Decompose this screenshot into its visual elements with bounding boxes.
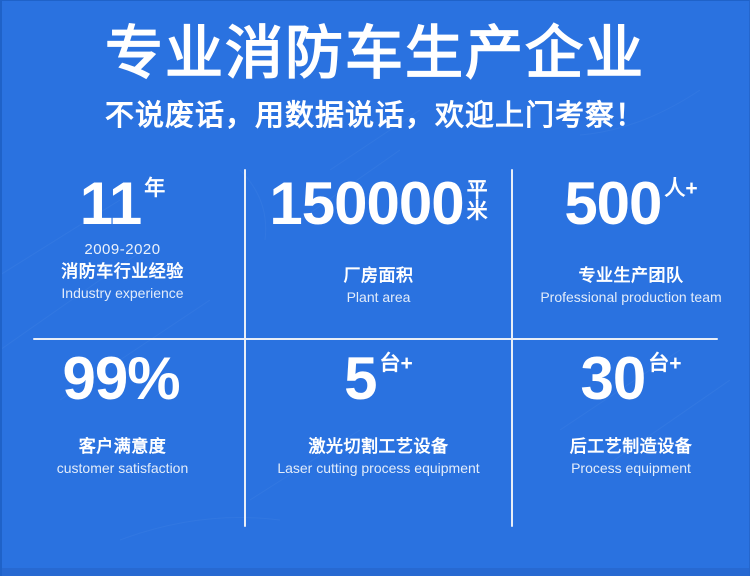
stat-number-row: 30 台+ <box>580 348 681 410</box>
stat-number-row: 11 年 <box>80 173 165 235</box>
stat-label-cn: 后工艺制造设备 <box>570 436 693 458</box>
stat-unit: 人+ <box>664 178 697 200</box>
stat-range: 2009-2020 <box>84 241 160 259</box>
page-title: 专业消防车生产企业 <box>0 20 750 88</box>
stat-card-plant-area: 150000 平 米 厂房面积 Plant area <box>245 155 512 324</box>
stat-label-en: Plant area <box>347 288 411 307</box>
stat-number-row: 5 台+ <box>344 348 413 410</box>
page-subtitle: 不说废话，用数据说话，欢迎上门考察！ <box>0 96 750 136</box>
stat-label-cn: 消防车行业经验 <box>61 261 184 283</box>
stat-unit: 台+ <box>648 353 681 375</box>
stat-card-industry-experience: 11 年 2009-2020 消防车行业经验 Industry experien… <box>0 155 245 324</box>
stat-label-en: Laser cutting process equipment <box>277 459 479 478</box>
stat-number-row: 500 人+ <box>564 173 697 235</box>
stat-number: 11 <box>80 173 141 235</box>
stat-label-en: customer satisfaction <box>57 459 189 478</box>
stat-number: 5 <box>344 348 376 410</box>
bottom-band <box>0 568 750 576</box>
stat-number-row: 150000 平 米 <box>269 173 487 235</box>
stat-label-en: Industry experience <box>61 284 183 303</box>
stat-number: 99% <box>62 348 179 410</box>
stat-card-laser-cutting-equipment: 5 台+ 激光切割工艺设备 Laser cutting process equi… <box>245 324 512 500</box>
poster-header: 专业消防车生产企业 不说废话，用数据说话，欢迎上门考察！ <box>0 0 750 136</box>
stats-grid: 11 年 2009-2020 消防车行业经验 Industry experien… <box>0 155 750 527</box>
stat-unit: 年 <box>144 178 165 200</box>
stat-unit-line1: 平 <box>467 180 488 201</box>
stat-label-en: Process equipment <box>571 459 691 478</box>
divider-vertical-left <box>244 169 246 527</box>
divider-horizontal <box>33 338 718 340</box>
stat-unit: 台+ <box>380 353 413 375</box>
divider-vertical-right <box>511 169 513 527</box>
stat-label-en: Professional production team <box>540 288 721 307</box>
stat-number: 30 <box>580 348 645 410</box>
stat-number-row: 99% <box>62 348 182 410</box>
stat-label-cn: 厂房面积 <box>344 265 414 287</box>
stat-number: 150000 <box>269 173 463 235</box>
stat-label-cn: 激光切割工艺设备 <box>309 436 449 458</box>
stat-unit-line2: 米 <box>467 201 488 222</box>
stat-card-process-equipment: 30 台+ 后工艺制造设备 Process equipment <box>512 324 750 500</box>
stat-label-cn: 客户满意度 <box>79 436 167 458</box>
stat-number: 500 <box>564 173 661 235</box>
stat-card-production-team: 500 人+ 专业生产团队 Professional production te… <box>512 155 750 324</box>
stat-label-cn: 专业生产团队 <box>579 265 684 287</box>
stat-unit: 平 米 <box>467 180 488 222</box>
promo-poster: 专业消防车生产企业 不说废话，用数据说话，欢迎上门考察！ 11 年 2009-2… <box>0 0 750 576</box>
stat-card-customer-satisfaction: 99% 客户满意度 customer satisfaction <box>0 324 245 500</box>
